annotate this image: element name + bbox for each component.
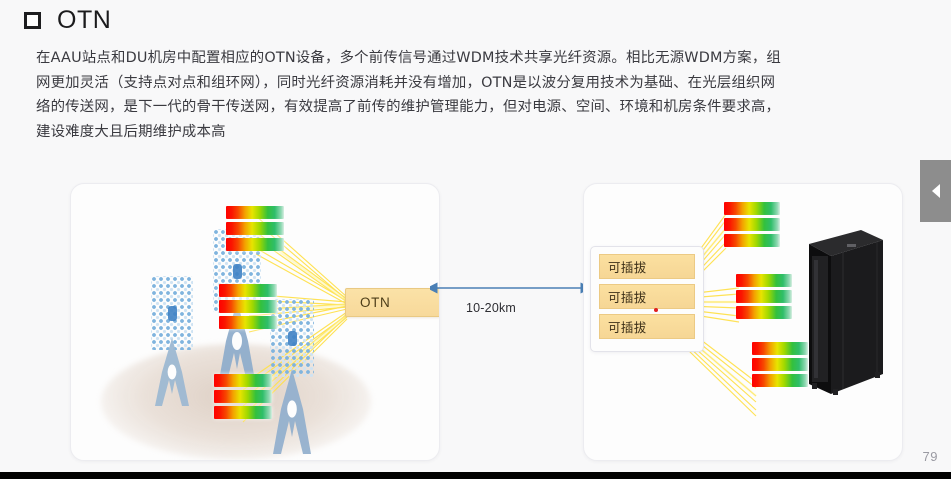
wdm-spectrum-bar: [219, 316, 277, 329]
page-number: 79: [923, 449, 938, 464]
wdm-spectrum-bar: [219, 300, 277, 313]
wdm-spectrum-bar: [724, 218, 780, 231]
wdm-spectrum-bar: [226, 206, 284, 219]
tower-mast-icon: [149, 276, 195, 408]
wdm-spectrum-bar: [724, 202, 780, 215]
wdm-spectrum-group: [724, 202, 780, 247]
paragraph-line: 网更加灵活（支持点对点和组环网），同时光纤资源消耗并没有增加，OTN是以波分复用…: [36, 71, 916, 96]
right-diagram-panel: 可插拔 可插拔 可插拔: [583, 183, 903, 461]
wdm-spectrum-group: [226, 206, 284, 251]
wdm-spectrum-group: [736, 274, 792, 319]
fiber-span-label: 10-20km: [466, 301, 516, 315]
wdm-spectrum-bar: [736, 274, 792, 287]
cell-tower: [149, 276, 195, 408]
pluggable-module-item[interactable]: 可插拔: [599, 314, 695, 339]
chevron-left-icon: [932, 184, 940, 198]
wdm-spectrum-bar: [219, 284, 277, 297]
server-rack-icon: [799, 222, 889, 412]
fiber-span-arrow: [430, 275, 588, 301]
slide-canvas: OTN 在AAU站点和DU机房中配置相应的OTN设备，多个前传信号通过WDM技术…: [0, 0, 951, 479]
status-dot: [654, 308, 658, 312]
wdm-spectrum-bar: [226, 222, 284, 235]
page-title-text: OTN: [57, 6, 111, 35]
wdm-spectrum-bar: [736, 290, 792, 303]
wdm-spectrum-bar: [724, 234, 780, 247]
paragraph-line: 在AAU站点和DU机房中配置相应的OTN设备，多个前传信号通过WDM技术共享光纤…: [36, 46, 916, 71]
square-bullet-icon: [24, 12, 41, 29]
wdm-spectrum-group: [214, 374, 272, 419]
otn-node-label: OTN: [360, 295, 390, 310]
wdm-spectrum-bar: [214, 406, 272, 419]
body-paragraph: 在AAU站点和DU机房中配置相应的OTN设备，多个前传信号通过WDM技术共享光纤…: [36, 46, 916, 144]
wdm-spectrum-group: [219, 284, 277, 329]
wdm-spectrum-bar: [214, 390, 272, 403]
collapse-sidebar-tab[interactable]: [920, 160, 951, 222]
bottom-letterbox-bar: [0, 472, 951, 479]
pluggable-modules-box: 可插拔 可插拔 可插拔: [590, 246, 704, 352]
paragraph-line: 络的传送网，是下一代的骨干传送网，有效提高了前传的维护管理能力，但对电源、空间、…: [36, 95, 916, 120]
pluggable-module-item[interactable]: 可插拔: [599, 284, 695, 309]
pluggable-module-item[interactable]: 可插拔: [599, 254, 695, 279]
left-diagram-panel: OTN: [70, 183, 440, 461]
otn-node-box[interactable]: OTN: [345, 288, 440, 317]
paragraph-line: 建设难度大且后期维护成本高: [36, 120, 916, 145]
wdm-spectrum-bar: [214, 374, 272, 387]
wdm-spectrum-bar: [226, 238, 284, 251]
page-title: OTN: [24, 6, 111, 35]
wdm-spectrum-bar: [736, 306, 792, 319]
